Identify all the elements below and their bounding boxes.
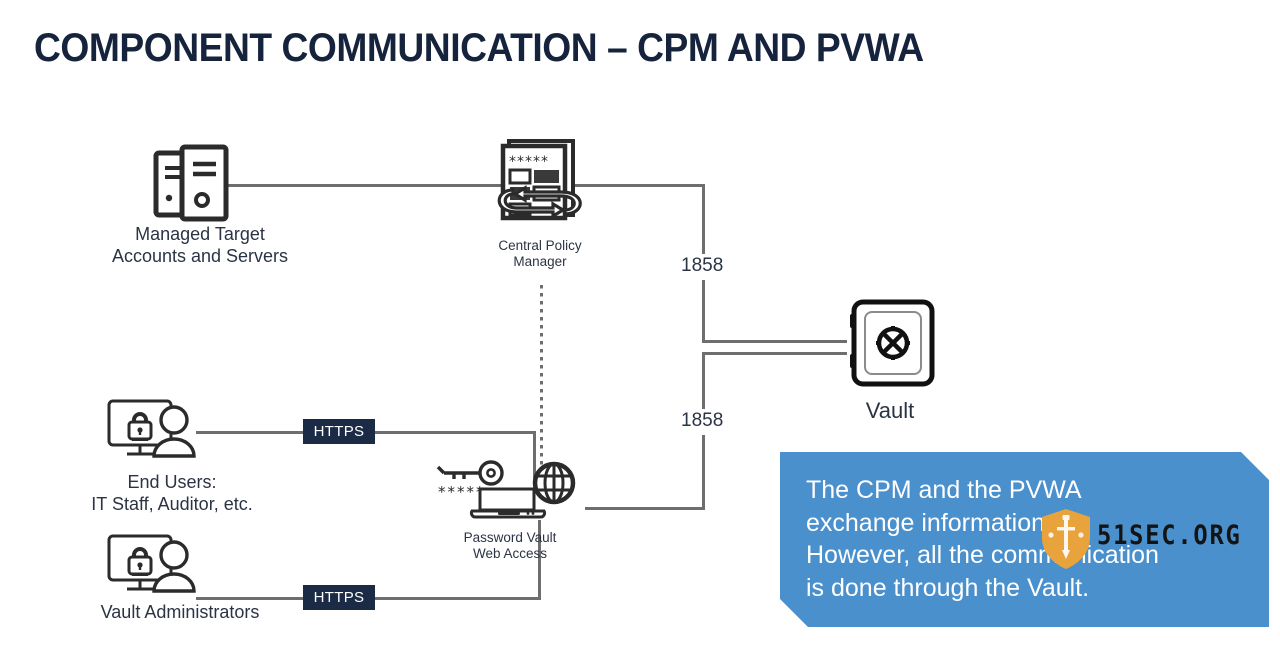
label-pvwa: Password Vault Web Access [430,530,590,563]
line-cpm-to-vault [702,340,847,343]
slide-canvas: COMPONENT COMMUNICATION – CPM AND PVWA 1… [0,0,1280,658]
svg-text:*****: ***** [509,154,549,170]
page-title: COMPONENT COMMUNICATION – CPM AND PVWA [34,26,924,71]
vault-safe-icon [845,297,937,389]
line-cpm-down-upper [702,184,705,258]
watermark: 51SEC.ORG [1040,508,1240,570]
svg-text:*****: ***** [438,483,486,501]
line-pvwa-right [585,507,705,510]
central-policy-manager-icon: ***** [495,136,585,228]
watermark-text: 51SEC.ORG [1097,520,1242,551]
label-vault-administrators: Vault Administrators [50,602,310,624]
label-central-policy-manager: Central Policy Manager [440,238,640,271]
node-managed-targets[interactable] [150,145,236,225]
port-label-pvwa-vault: 1858 [674,409,730,433]
line-cpm-to-pvwa-dotted [540,285,543,477]
label-end-users: End Users: IT Staff, Auditor, etc. [42,472,302,516]
node-pvwa[interactable]: ***** [432,458,584,520]
label-managed-targets: Managed Target Accounts and Servers [60,224,340,268]
line-pvwa-up-lower [702,435,705,509]
node-vault-administrators[interactable] [106,533,202,595]
node-end-users[interactable] [106,398,202,460]
line-pvwa-up-upper [702,352,705,414]
shield-sword-icon [1040,508,1092,570]
node-vault[interactable] [845,297,937,389]
line-cpm-right [575,184,705,187]
line-pvwa-to-vault [702,352,847,355]
line-targets-to-cpm [228,184,502,187]
node-central-policy-manager[interactable]: ***** [495,136,585,228]
https-badge-vault-admins: HTTPS [303,585,375,610]
user-monitor-lock-icon [106,398,202,460]
https-badge-end-users: HTTPS [303,419,375,444]
server-stack-icon [150,145,236,225]
key-laptop-globe-icon: ***** [432,458,584,520]
port-label-cpm-vault: 1858 [674,254,730,278]
line-cpm-down-lower [702,280,705,342]
label-vault: Vault [810,398,970,425]
user-monitor-lock-icon [106,533,202,595]
